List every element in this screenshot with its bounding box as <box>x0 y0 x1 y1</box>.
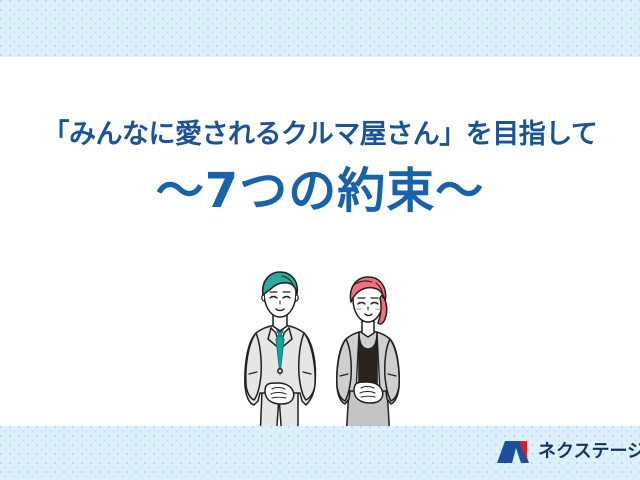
nexstage-n-logo-icon <box>497 439 531 465</box>
male-staff-figure <box>245 272 316 439</box>
headline-secondary: 〜7つの約束〜 <box>0 163 640 219</box>
brand-logo: ネクステージ <box>497 439 640 465</box>
headline-primary: 「みんなに愛されるクルマ屋さん」を目指して <box>0 118 640 152</box>
dotted-band-top <box>0 0 640 57</box>
headline-block: 「みんなに愛されるクルマ屋さん」を目指して 〜7つの約束〜 <box>0 118 640 219</box>
brand-name-label: ネクステージ <box>538 443 640 461</box>
promise-banner: 「みんなに愛されるクルマ屋さん」を目指して 〜7つの約束〜 <box>0 0 640 480</box>
bowing-staff-illustration <box>238 271 422 441</box>
staff-illustration-svg <box>238 271 422 441</box>
female-staff-figure <box>337 277 399 439</box>
